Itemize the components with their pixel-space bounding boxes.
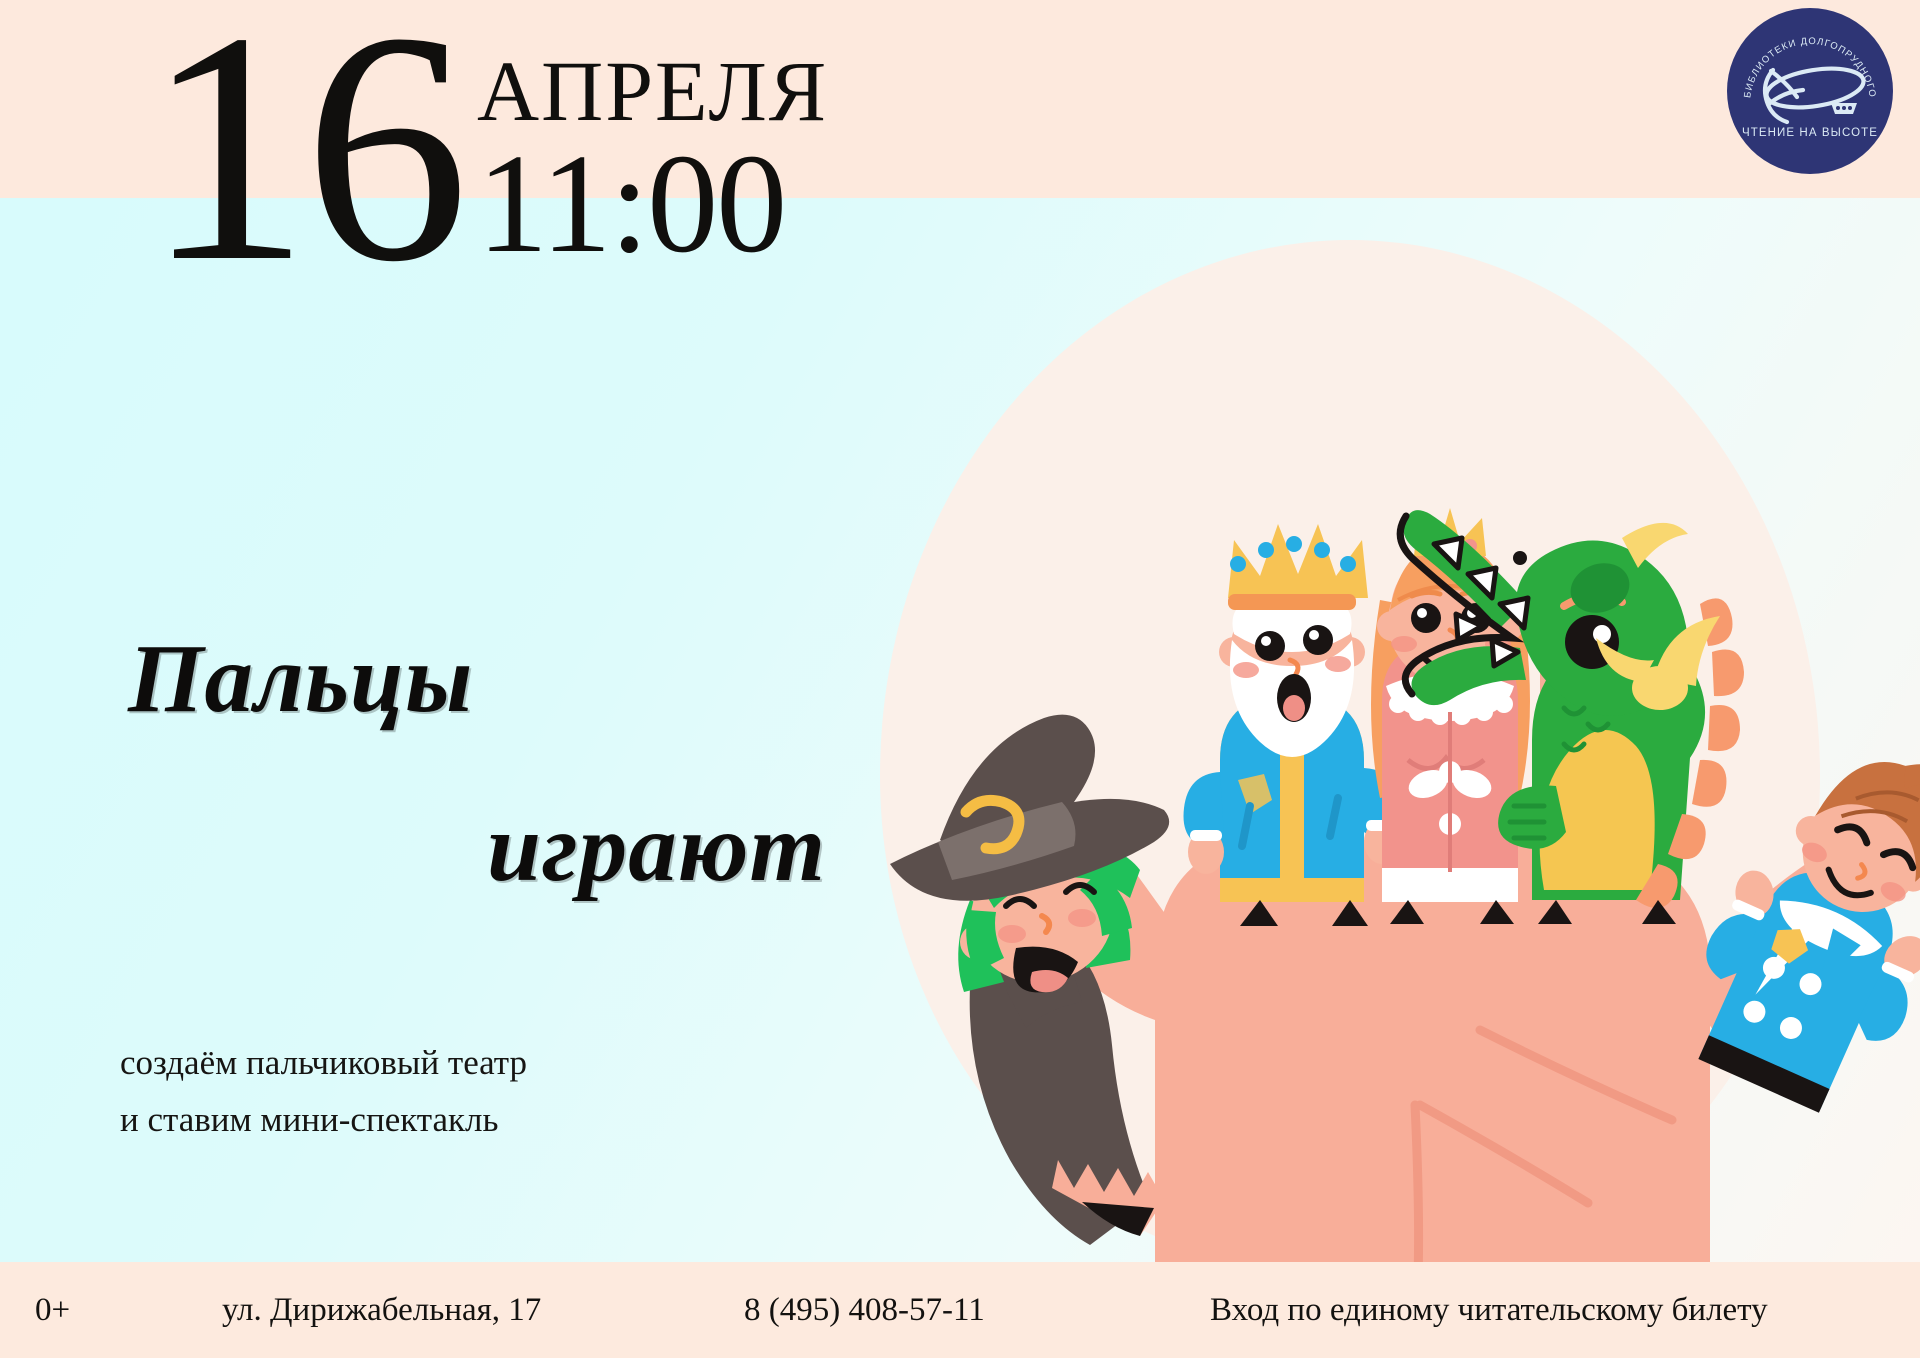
logo-bottom-text: ЧТЕНИЕ НА ВЫСОТЕ [1742,127,1878,139]
event-month: АПРЕЛЯ [477,48,828,134]
event-month-time: АПРЕЛЯ 11:00 [477,6,828,268]
event-time: 11:00 [477,140,828,268]
entry-note: Вход по единому читательскому билету [1210,1292,1768,1329]
title-line-2: играют [118,799,878,896]
venue-address: ул. Дирижабельная, 17 [222,1292,541,1329]
subtitle-line-1: создаём пальчиковый театр [120,1035,527,1092]
poster-subtitle: создаём пальчиковый театр и ставим мини-… [120,1035,527,1148]
library-logo[interactable]: БИБЛИОТЕКИ ДОЛГОПРУДНОГО ЧТЕНИЕ НА ВЫСОТ… [1727,8,1893,174]
event-day: 16 [145,6,463,290]
title-line-1: Пальцы [118,630,878,727]
subtitle-line-2: и ставим мини-спектакль [120,1092,527,1149]
hand-with-finger-puppets-illustration [820,200,1920,1300]
poster-title: Пальцы играют [118,630,878,896]
poster-canvas: 16 АПРЕЛЯ 11:00 БИБЛИОТЕКИ ДОЛГОПРУДНОГО [0,0,1920,1358]
event-date-block: 16 АПРЕЛЯ 11:00 [145,6,828,290]
age-rating-badge: 0+ [35,1292,70,1329]
contact-phone[interactable]: 8 (495) 408-57-11 [744,1292,985,1329]
poster-footer: 0+ ул. Дирижабельная, 17 8 (495) 408-57-… [0,1262,1920,1358]
